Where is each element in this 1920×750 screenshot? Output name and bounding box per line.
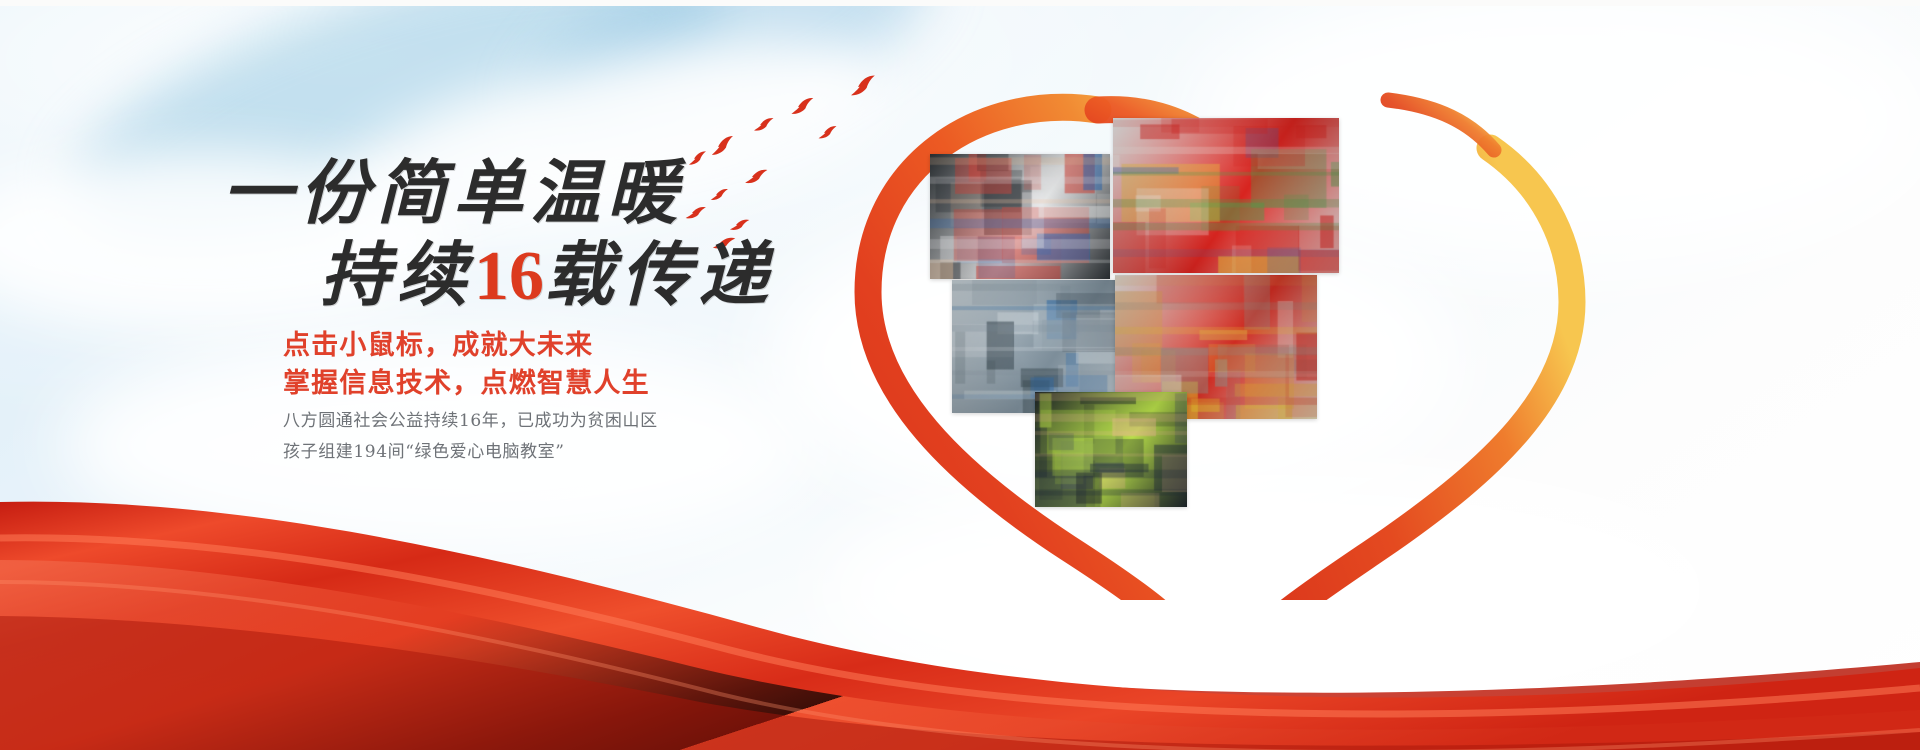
- photo-donation-ceremony-blue[interactable]: [1113, 118, 1339, 273]
- headline-line-1: 一份简单温暖: [222, 158, 842, 228]
- subheadline-line-1: 点击小鼠标，成就大未来: [283, 327, 650, 365]
- headline-line2-before: 持续: [320, 233, 474, 316]
- subheadline-line-2: 掌握信息技术，点燃智慧人生: [283, 365, 650, 403]
- headline-line2-after: 载传递: [544, 233, 775, 316]
- red-ribbon-wave: [0, 410, 1920, 750]
- promo-banner: 一份简单温暖 持续16载传递 点击小鼠标，成就大未来 掌握信息技术，点燃智慧人生…: [0, 0, 1920, 750]
- subheadline: 点击小鼠标，成就大未来 掌握信息技术，点燃智慧人生: [283, 327, 650, 404]
- headline-line-2: 持续16载传递: [320, 240, 842, 312]
- headline: 一份简单温暖 持续16载传递: [222, 158, 842, 312]
- headline-year-count: 16: [474, 238, 544, 315]
- photo-computer-lab[interactable]: [930, 154, 1110, 279]
